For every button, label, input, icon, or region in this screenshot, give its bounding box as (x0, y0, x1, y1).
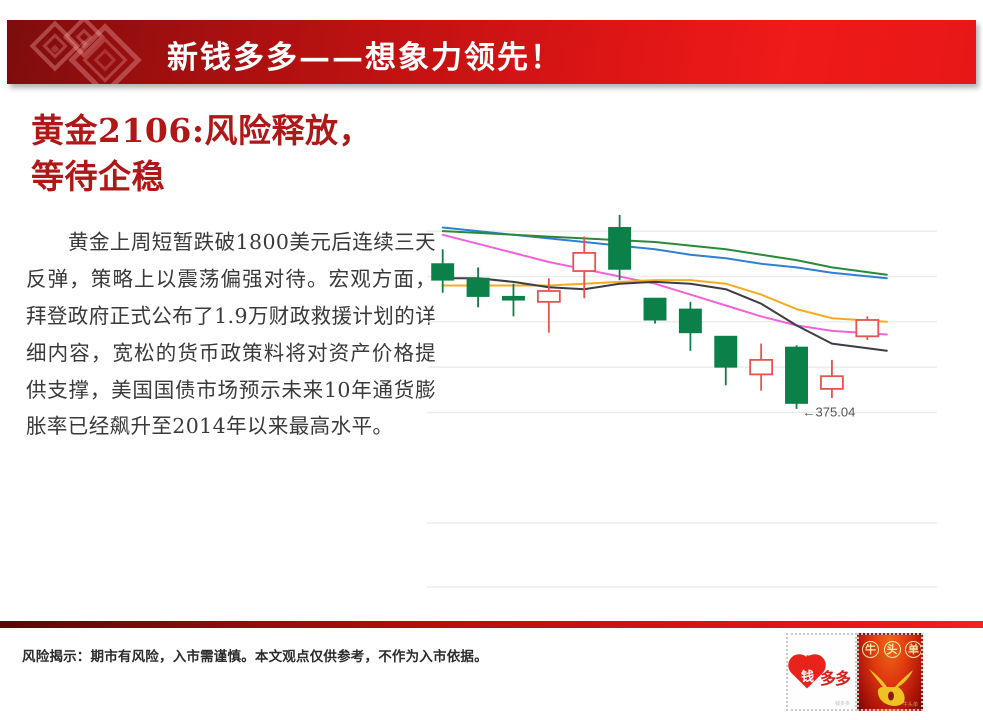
candlestick-chart-svg: ←375.04 (425, 205, 945, 605)
candle-12 (856, 316, 878, 340)
footer-divider (0, 621, 983, 628)
candle-8 (715, 336, 737, 385)
page-title: 黄金2106:风险释放，等待企稳 (31, 108, 431, 199)
stamp-word: 多多 (820, 665, 850, 689)
ma-line-MA-green (443, 231, 887, 275)
candle-5 (609, 215, 631, 280)
footer-stamps: ■■ 钱 多多 钱多多 牛 头 单 牛头单 (786, 633, 923, 711)
candle-7 (679, 302, 701, 351)
candlestick-chart: ←375.04 (425, 205, 945, 605)
chart-ma-lines (443, 228, 887, 351)
header-banner: 新钱多多——想象力领先！ (7, 20, 976, 84)
article-body-text: 黄金上周短暂跌破1800美元后连续三天反弹，策略上以震荡偏强对待。宏观方面，拜登… (26, 224, 436, 445)
chart-annotation: ←375.04 (803, 405, 856, 420)
stamp-circle-1: 牛 (862, 641, 879, 658)
stamp-niutoudan: 牛 头 单 牛头单 (857, 633, 923, 711)
candle-1 (467, 267, 489, 307)
header-title: 新钱多多——想象力领先！ (167, 32, 563, 77)
footer-disclaimer: 风险揭示：期市有风险，入市需谨慎。本文观点仅供参考，不作为入市依据。 (22, 645, 488, 665)
bull-head-icon (867, 663, 915, 707)
stamp-tiny-text: 钱多多 (835, 700, 850, 707)
candle-9 (750, 344, 772, 391)
candle-11 (821, 360, 843, 398)
candle-10 (786, 345, 808, 408)
chinese-knot-diamond-icon (29, 20, 157, 84)
stamp-qianduoduo: ■■ 钱 多多 钱多多 (786, 633, 857, 711)
chart-annotations: ←375.04 (803, 405, 856, 420)
stamp-heart-char: 钱 (799, 666, 816, 685)
chart-candles (432, 215, 879, 409)
candle-6 (644, 298, 666, 323)
stamp-circle-row: 牛 头 单 (862, 641, 922, 658)
candle-2 (502, 284, 524, 317)
stamp-circle-3: 单 (905, 641, 922, 658)
stamp-circle-2: 头 (884, 641, 901, 658)
